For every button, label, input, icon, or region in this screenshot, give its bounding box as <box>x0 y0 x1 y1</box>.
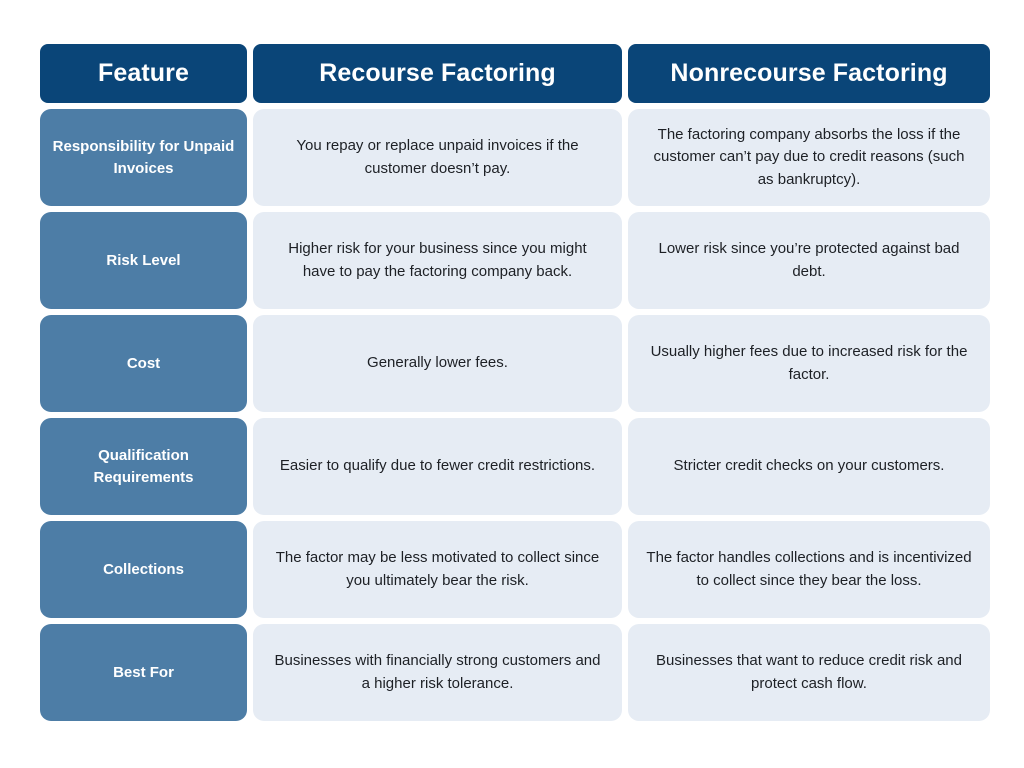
table-row: Best For Businesses with financially str… <box>40 624 984 721</box>
column-header-recourse-factoring: Recourse Factoring <box>253 44 622 103</box>
cell-nonrecourse-cost: Usually higher fees due to increased ris… <box>628 315 990 412</box>
row-label-best-for: Best For <box>40 624 247 721</box>
cell-nonrecourse-responsibility-for-unpaid-invoices: The factoring company absorbs the loss i… <box>628 109 990 206</box>
column-header-nonrecourse-factoring: Nonrecourse Factoring <box>628 44 990 103</box>
cell-nonrecourse-risk-level: Lower risk since you’re protected agains… <box>628 212 990 309</box>
cell-nonrecourse-best-for: Businesses that want to reduce credit ri… <box>628 624 990 721</box>
cell-recourse-collections: The factor may be less motivated to coll… <box>253 521 622 618</box>
table-row: Cost Generally lower fees. Usually highe… <box>40 315 984 412</box>
row-label-cost: Cost <box>40 315 247 412</box>
column-header-feature: Feature <box>40 44 247 103</box>
table-row: Collections The factor may be less motiv… <box>40 521 984 618</box>
cell-nonrecourse-collections: The factor handles collections and is in… <box>628 521 990 618</box>
row-label-qualification-requirements: Qualification Requirements <box>40 418 247 515</box>
row-label-risk-level: Risk Level <box>40 212 247 309</box>
row-label-collections: Collections <box>40 521 247 618</box>
comparison-table: Feature Recourse Factoring Nonrecourse F… <box>40 44 984 722</box>
cell-nonrecourse-qualification-requirements: Stricter credit checks on your customers… <box>628 418 990 515</box>
table-row: Risk Level Higher risk for your business… <box>40 212 984 309</box>
cell-recourse-cost: Generally lower fees. <box>253 315 622 412</box>
cell-recourse-responsibility-for-unpaid-invoices: You repay or replace unpaid invoices if … <box>253 109 622 206</box>
cell-recourse-risk-level: Higher risk for your business since you … <box>253 212 622 309</box>
cell-recourse-qualification-requirements: Easier to qualify due to fewer credit re… <box>253 418 622 515</box>
table-header-row: Feature Recourse Factoring Nonrecourse F… <box>40 44 984 103</box>
cell-recourse-best-for: Businesses with financially strong custo… <box>253 624 622 721</box>
table-row: Qualification Requirements Easier to qua… <box>40 418 984 515</box>
table-row: Responsibility for Unpaid Invoices You r… <box>40 109 984 206</box>
row-label-responsibility-for-unpaid-invoices: Responsibility for Unpaid Invoices <box>40 109 247 206</box>
